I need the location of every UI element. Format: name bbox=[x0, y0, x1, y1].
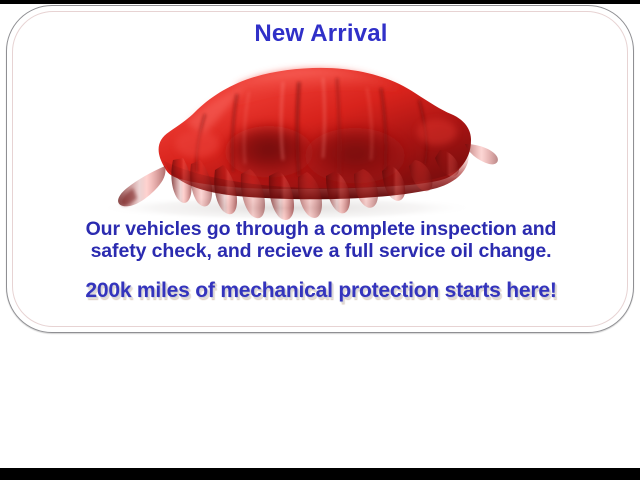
page-title: New Arrival bbox=[7, 22, 635, 46]
letterbox-bar-bottom bbox=[0, 468, 640, 480]
tagline: 200k miles of mechanical protection star… bbox=[7, 279, 635, 303]
body-copy-line-1: Our vehicles go through a complete inspe… bbox=[7, 218, 635, 240]
body-copy-line-2: safety check, and recieve a full service… bbox=[7, 240, 635, 262]
body-copy: Our vehicles go through a complete inspe… bbox=[7, 218, 635, 262]
letterbox-bar-top bbox=[0, 0, 640, 4]
slide-canvas: New Arrival bbox=[0, 0, 640, 480]
covered-car-illustration bbox=[37, 48, 507, 220]
promo-card: New Arrival bbox=[6, 5, 634, 333]
